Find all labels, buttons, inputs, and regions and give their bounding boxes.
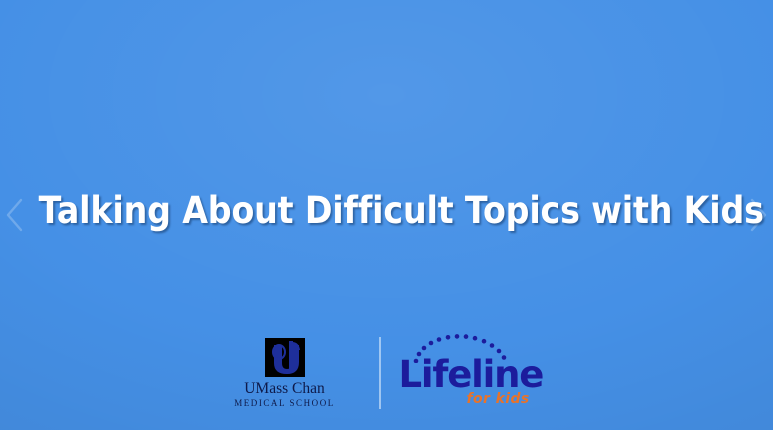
umass-u-monogram-icon — [265, 338, 305, 377]
chevron-left-icon — [2, 195, 28, 235]
logo-divider — [379, 337, 381, 409]
carousel-prev-button[interactable] — [2, 195, 28, 235]
umass-subtitle: MEDICAL SCHOOL — [234, 398, 335, 409]
slide-canvas: Talking About Difficult Topics with Kids… — [0, 0, 773, 430]
logo-lockup: UMass Chan MEDICAL SCHOOL — [0, 330, 773, 416]
lifeline-wordmark: Lifeline — [399, 355, 544, 395]
slide-title: Talking About Difficult Topics with Kids — [39, 186, 735, 236]
umass-wordmark: UMass Chan — [244, 381, 325, 397]
lifeline-logo: Lifeline for kids — [399, 333, 549, 413]
umass-chan-logo: UMass Chan MEDICAL SCHOOL — [225, 338, 361, 409]
lifeline-tagline: for kids — [467, 391, 530, 407]
